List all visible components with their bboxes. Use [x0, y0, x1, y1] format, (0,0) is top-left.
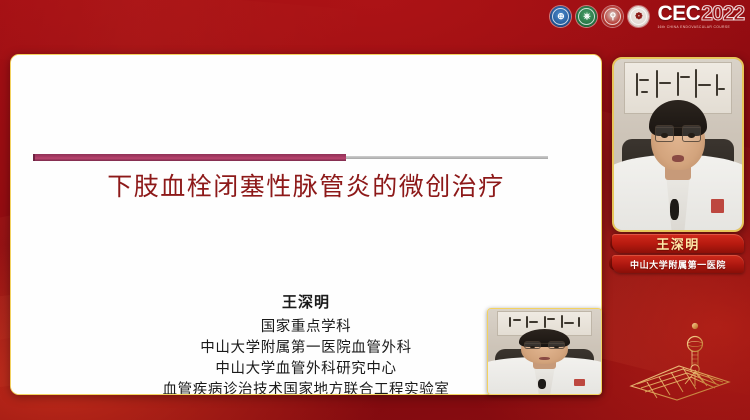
slide-title: 下肢血栓闭塞性脉管炎的微创治疗 [11, 173, 601, 202]
cec-year: 2022 [701, 4, 744, 24]
speaker-name-plate: 王深明 [612, 234, 744, 253]
org-logo-1-icon: ⊕ [550, 6, 571, 27]
speaker-name-label: 王深明 [612, 234, 744, 253]
rule-maroon-segment [33, 154, 346, 161]
cec-conference-logo: CEC 2022 16th CHINA ENDOVASCULAR COURSE [657, 4, 744, 29]
speaker-video-feed-small [488, 309, 601, 394]
org-logo-3-icon: ⚲ [602, 6, 623, 27]
org-logo-4-icon: ❁ [628, 6, 649, 27]
picture-in-picture-video[interactable] [487, 308, 602, 395]
cec-subtitle: 16th CHINA ENDOVASCULAR COURSE [657, 25, 730, 29]
cec-logo-row: CEC 2022 [657, 4, 744, 24]
rule-gray-segment [346, 156, 548, 159]
speaker-video-panel[interactable] [612, 57, 744, 232]
header-logo-bar: ⊕ ⎈ ⚲ ❁ CEC 2022 16th CHINA ENDOVASCULAR… [550, 4, 744, 29]
org-logo-2-icon: ⎈ [576, 6, 597, 27]
speaker-org-plate: 中山大学附属第一医院 [612, 255, 744, 273]
title-decorative-rule [33, 154, 548, 161]
oriental-pearl-tower-graphic [617, 300, 742, 410]
speaker-video-feed [614, 59, 742, 230]
speaker-organization-label: 中山大学附属第一医院 [612, 255, 744, 273]
cec-wordmark: CEC [657, 4, 700, 24]
